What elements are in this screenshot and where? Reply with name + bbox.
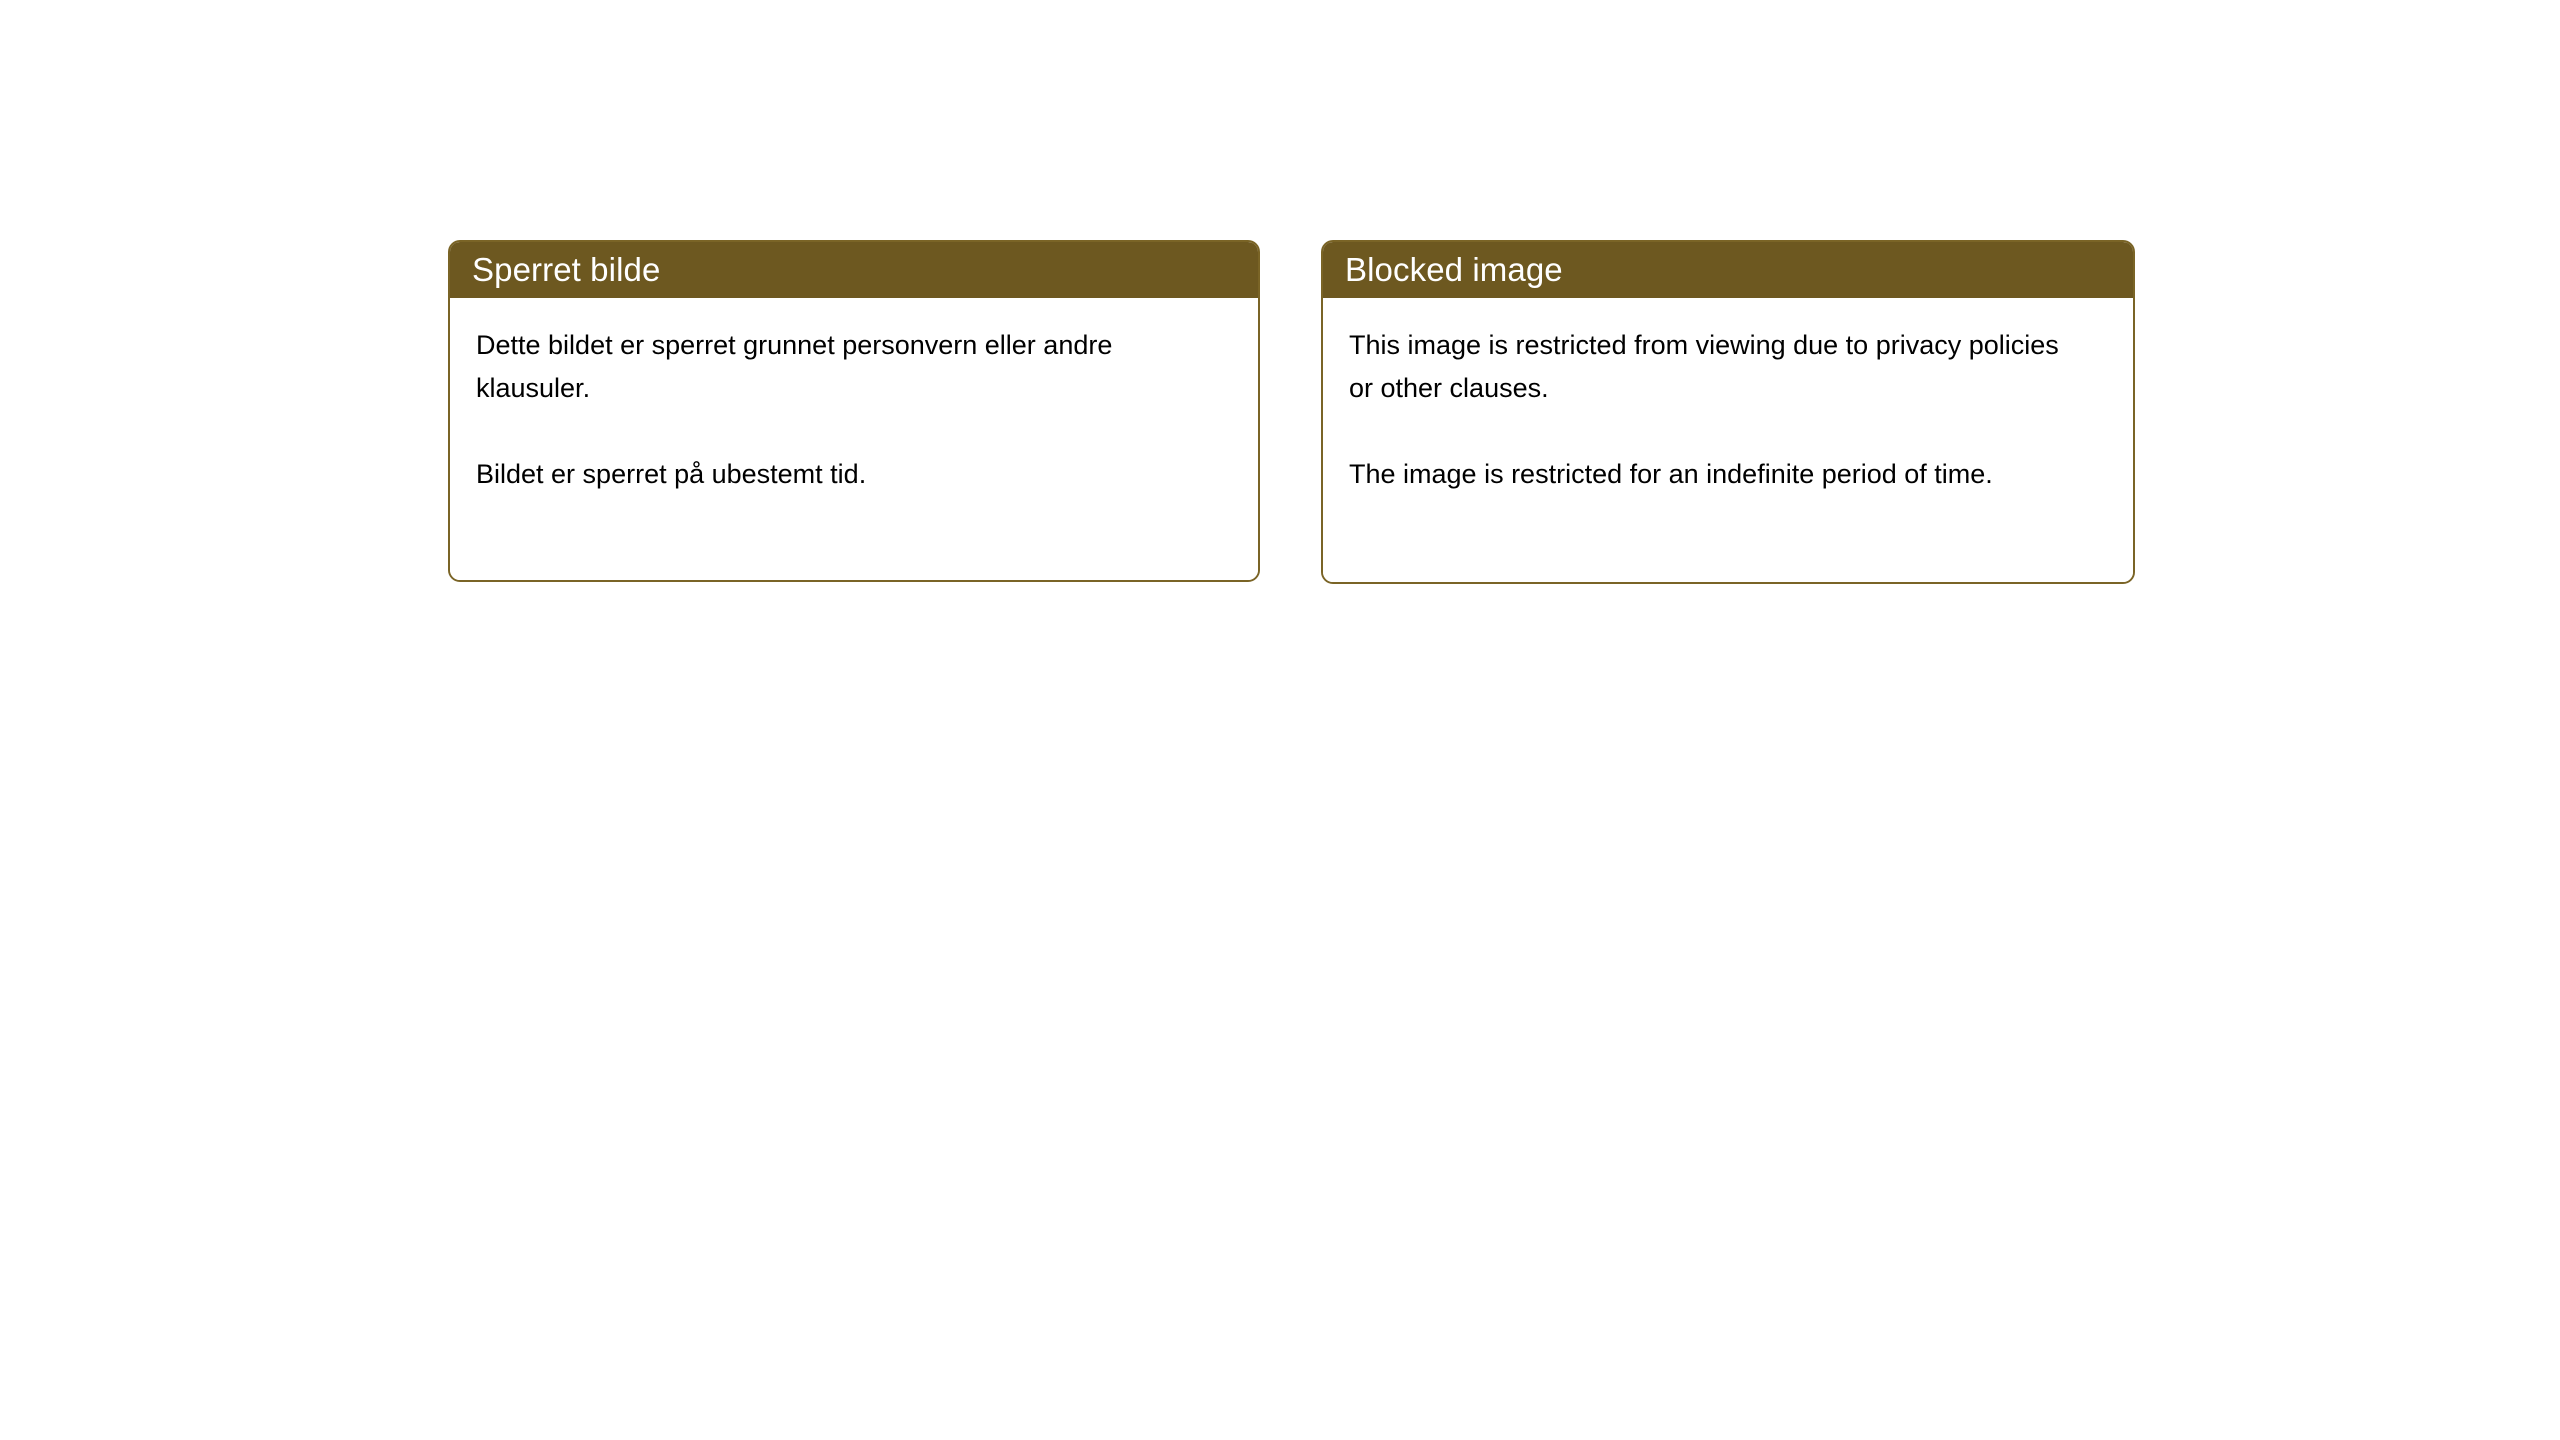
notice-body-norwegian: Dette bildet er sperret grunnet personve… xyxy=(450,298,1258,580)
notice-header-english: Blocked image xyxy=(1323,242,2133,298)
notice-title-english: Blocked image xyxy=(1345,252,1563,288)
notice-paragraph-reason-english: This image is restricted from viewing du… xyxy=(1349,324,2079,410)
blocked-image-notice-card-norwegian: Sperret bilde Dette bildet er sperret gr… xyxy=(448,240,1260,582)
notice-paragraph-duration-english: The image is restricted for an indefinit… xyxy=(1349,453,2079,496)
notice-paragraph-duration-norwegian: Bildet er sperret på ubestemt tid. xyxy=(476,453,1176,496)
notice-body-english: This image is restricted from viewing du… xyxy=(1323,298,2133,582)
notice-title-norwegian: Sperret bilde xyxy=(472,252,660,288)
blocked-image-notice-card-english: Blocked image This image is restricted f… xyxy=(1321,240,2135,584)
notice-paragraph-reason-norwegian: Dette bildet er sperret grunnet personve… xyxy=(476,324,1176,410)
blocked-image-notice-stage: Sperret bilde Dette bildet er sperret gr… xyxy=(0,0,2560,1440)
notice-header-norwegian: Sperret bilde xyxy=(450,242,1258,298)
